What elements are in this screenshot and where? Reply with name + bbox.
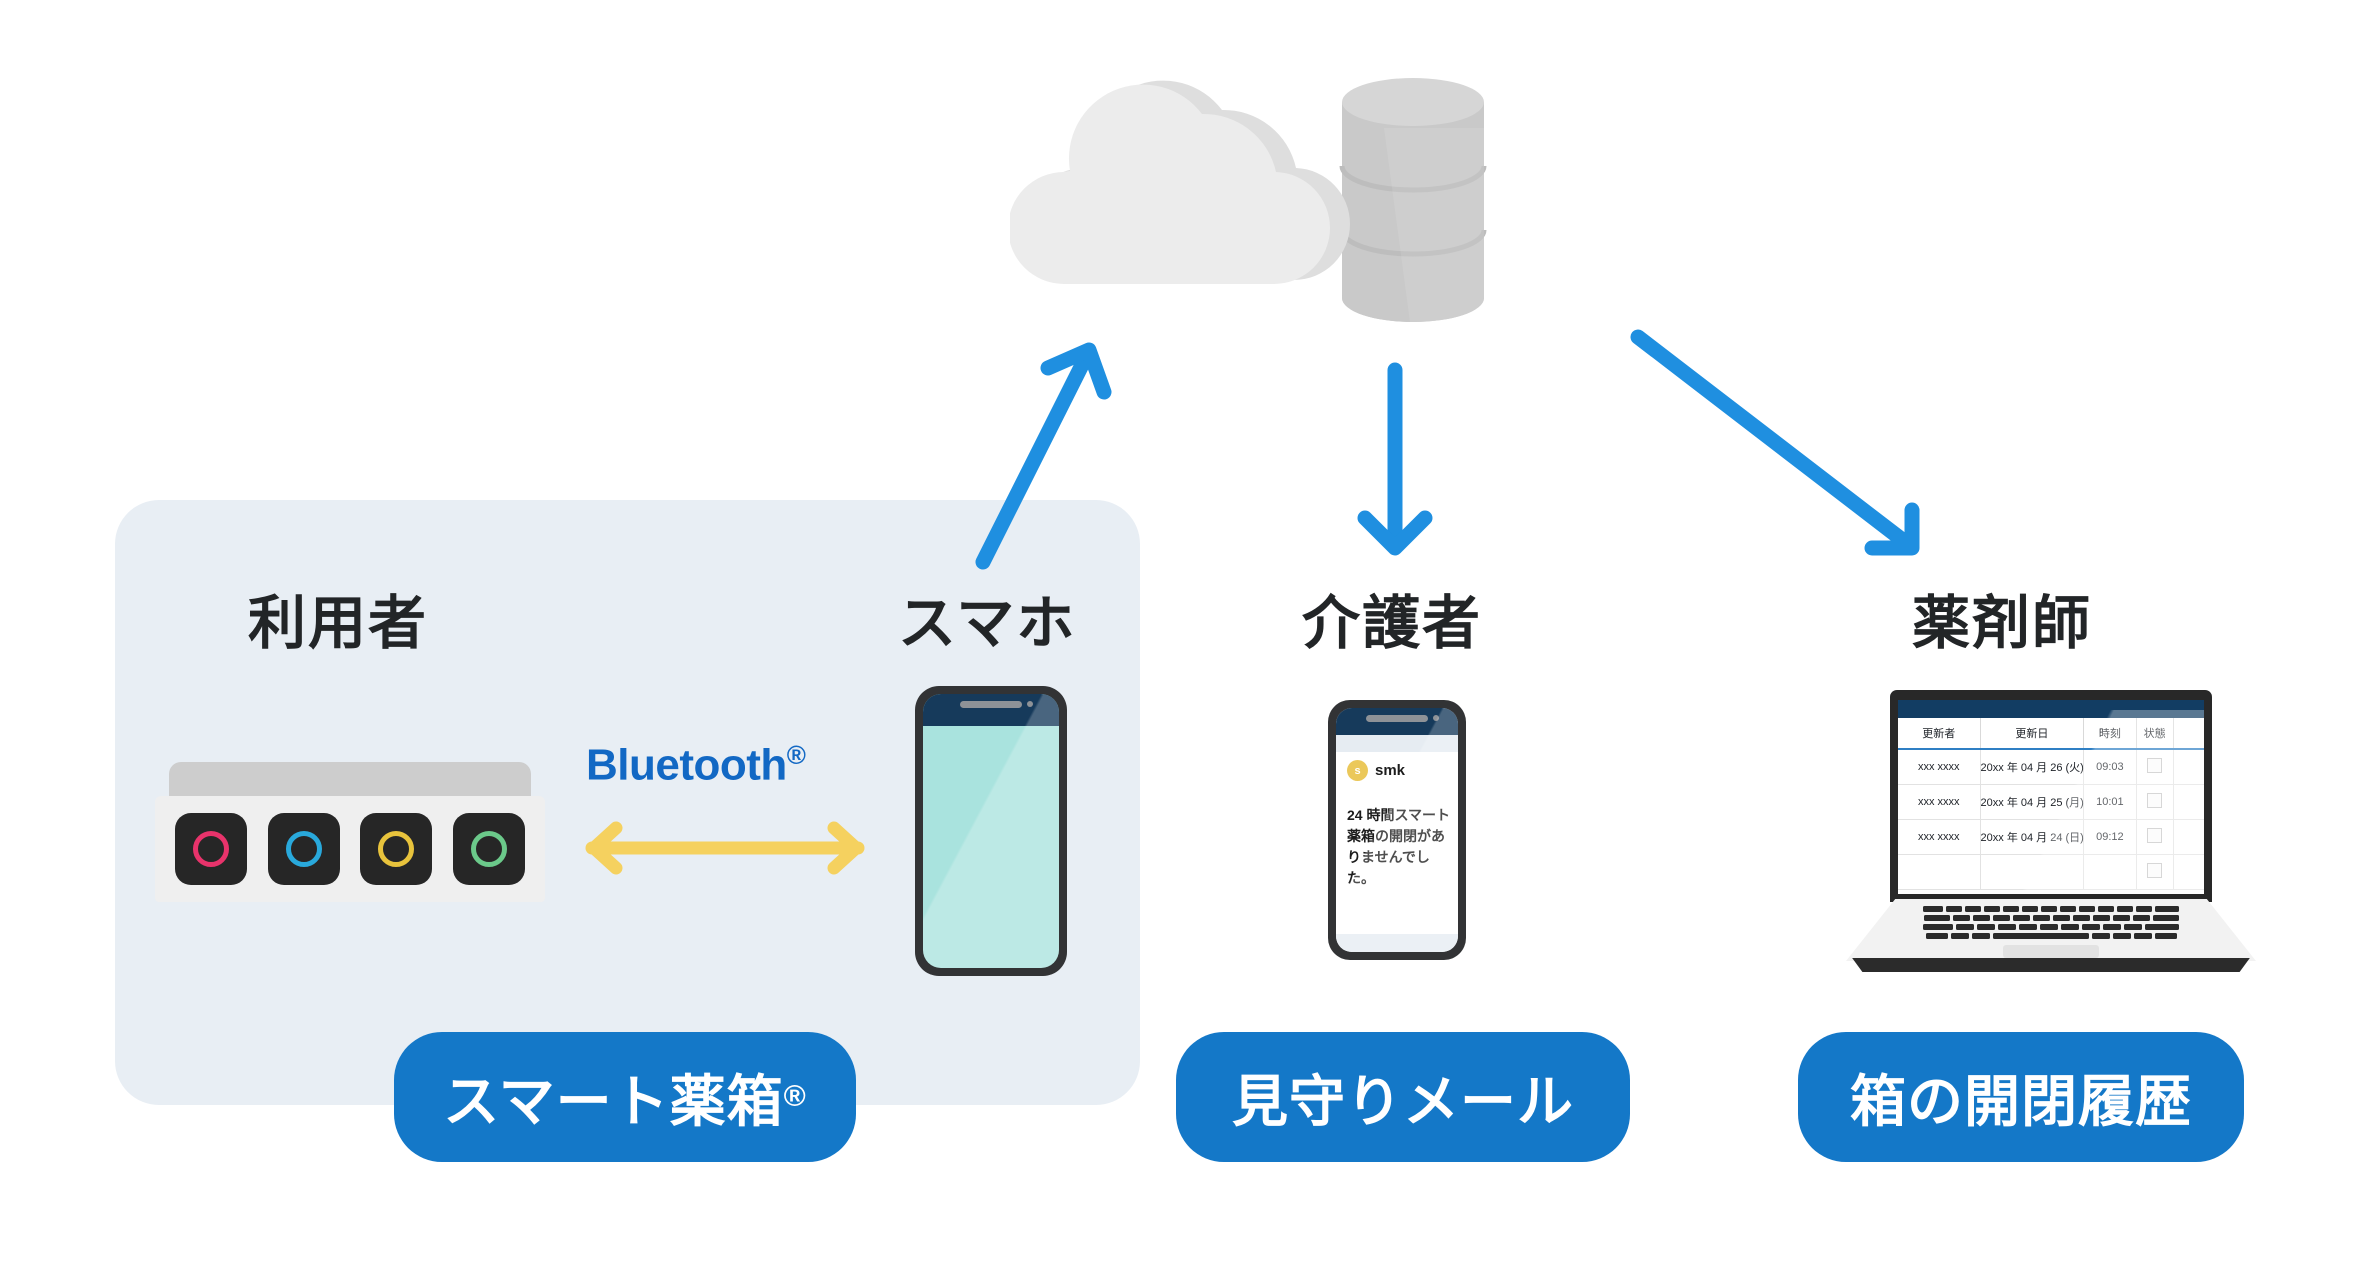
pillbox-slot-yellow — [360, 813, 432, 885]
pillbox-slot-pink — [175, 813, 247, 885]
cell-date — [1980, 855, 2084, 890]
th-status: 状態 — [2136, 718, 2173, 749]
diagram-canvas: .blue-arrow { stroke:#1f8fe0; stroke-wid… — [0, 0, 2353, 1270]
cloud-icon — [1010, 81, 1350, 284]
arrow-cloud-to-caregiver — [1365, 370, 1425, 548]
cell-time: 09:12 — [2084, 820, 2136, 855]
mail-app-footer — [1336, 934, 1458, 952]
cell-updater: xxx xxxx — [1898, 785, 1980, 820]
phone-screen-gloss — [923, 694, 1059, 968]
slot-ring-green-icon — [471, 831, 507, 867]
cell-date: 20xx 年 04 月 24 (日) — [1980, 820, 2084, 855]
cell-spacer — [2173, 855, 2204, 890]
app-header-bar — [1898, 700, 2204, 718]
laptop-screen: 更新者 更新日 時刻 状態 xxx xxxx 20xx 年 04 月 26 (火… — [1898, 700, 2204, 894]
keyboard-row — [1904, 933, 2198, 939]
pill-mail-text: 見守りメール — [1232, 1057, 1574, 1138]
smartphone-device — [915, 686, 1067, 976]
mail-message-body: 24 時間スマート薬箱の開閉がありませんでした。 — [1347, 805, 1453, 889]
keyboard-row — [1904, 906, 2198, 912]
cell-spacer — [2173, 820, 2204, 855]
bluetooth-text: Bluetooth — [586, 741, 787, 790]
phone-statusbar — [923, 694, 1059, 726]
phone-camera-icon — [1027, 701, 1033, 707]
open-close-history-table: 更新者 更新日 時刻 状態 xxx xxxx 20xx 年 04 月 26 (火… — [1898, 718, 2204, 890]
cloud-database-icon — [1010, 40, 1540, 330]
mail-app-header — [1336, 735, 1458, 752]
cell-spacer — [2173, 785, 2204, 820]
arrow-cloud-to-pharmacist — [1638, 337, 1912, 548]
phone-speaker-icon — [960, 701, 1022, 708]
laptop-trackpad — [2003, 945, 2099, 958]
table-header-row: 更新者 更新日 時刻 状態 — [1898, 718, 2204, 749]
heading-user: 利用者 — [248, 576, 428, 660]
database-icon — [1342, 78, 1484, 322]
cell-date: 20xx 年 04 月 25 (月) — [1980, 785, 2084, 820]
th-update-date: 更新日 — [1980, 718, 2084, 749]
cell-spacer — [2173, 749, 2204, 785]
laptop-keyboard — [1904, 906, 2198, 942]
mail-phone-speaker-icon — [1366, 715, 1428, 722]
bluetooth-label: Bluetooth® — [586, 740, 805, 791]
th-updater: 更新者 — [1898, 718, 1980, 749]
bluetooth-registered-mark: ® — [787, 740, 806, 770]
cell-status — [2136, 855, 2173, 890]
slot-ring-pink-icon — [193, 831, 229, 867]
table-row[interactable]: xxx xxxx 20xx 年 04 月 24 (日) 09:12 — [1898, 820, 2204, 855]
sender-avatar: s — [1347, 760, 1368, 781]
cell-status — [2136, 749, 2173, 785]
slot-ring-cyan-icon — [286, 831, 322, 867]
pill-smartbox-registered-mark: ® — [784, 1080, 807, 1114]
table-row[interactable]: xxx xxxx 20xx 年 04 月 25 (月) 10:01 — [1898, 785, 2204, 820]
table-row-partial[interactable] — [1898, 855, 2204, 890]
cell-status — [2136, 785, 2173, 820]
label-box-open-close-history[interactable]: 箱の開閉履歴 — [1798, 1032, 2244, 1162]
slot-ring-yellow-icon — [378, 831, 414, 867]
status-checkbox-icon[interactable] — [2147, 793, 2162, 808]
cell-updater: xxx xxxx — [1898, 820, 1980, 855]
pill-smartbox-text: スマート薬箱 — [443, 1057, 783, 1138]
phone-screen — [923, 694, 1059, 968]
keyboard-row — [1904, 924, 2198, 930]
th-spacer — [2173, 718, 2204, 749]
bluetooth-bidirectional-arrow-icon — [570, 820, 880, 876]
label-smart-pillbox[interactable]: スマート薬箱® — [394, 1032, 856, 1162]
laptop-foot — [1846, 958, 2256, 972]
pillbox-slots — [155, 796, 545, 902]
caregiver-phone-device: s smk 24 時間スマート薬箱の開閉がありませんでした。 — [1328, 700, 1466, 960]
pillbox-slot-cyan — [268, 813, 340, 885]
label-watch-over-mail[interactable]: 見守りメール — [1176, 1032, 1630, 1162]
cell-time — [2084, 855, 2136, 890]
cell-updater: xxx xxxx — [1898, 749, 1980, 785]
table-row[interactable]: xxx xxxx 20xx 年 04 月 26 (火) 09:03 — [1898, 749, 2204, 785]
status-checkbox-icon[interactable] — [2147, 863, 2162, 878]
heading-smartphone: スマホ — [898, 576, 1076, 660]
mail-sender-name: smk — [1375, 762, 1405, 779]
heading-caregiver: 介護者 — [1302, 576, 1482, 660]
keyboard-row — [1904, 915, 2198, 921]
status-checkbox-icon[interactable] — [2147, 758, 2162, 773]
laptop-device: 更新者 更新日 時刻 状態 xxx xxxx 20xx 年 04 月 26 (火… — [1846, 690, 2256, 980]
cell-time: 10:01 — [2084, 785, 2136, 820]
smart-pillbox-device — [155, 762, 545, 902]
heading-pharmacist: 薬剤師 — [1912, 576, 2092, 660]
status-checkbox-icon[interactable] — [2147, 828, 2162, 843]
cell-time: 09:03 — [2084, 749, 2136, 785]
cell-status — [2136, 820, 2173, 855]
pill-history-text: 箱の開閉履歴 — [1850, 1057, 2192, 1138]
pillbox-slot-green — [453, 813, 525, 885]
mail-phone-camera-icon — [1433, 715, 1439, 721]
cell-date: 20xx 年 04 月 26 (火) — [1980, 749, 2084, 785]
mail-sender-row: s smk — [1347, 760, 1405, 781]
cell-updater — [1898, 855, 1980, 890]
mail-phone-screen: s smk 24 時間スマート薬箱の開閉がありませんでした。 — [1336, 708, 1458, 952]
th-time: 時刻 — [2084, 718, 2136, 749]
